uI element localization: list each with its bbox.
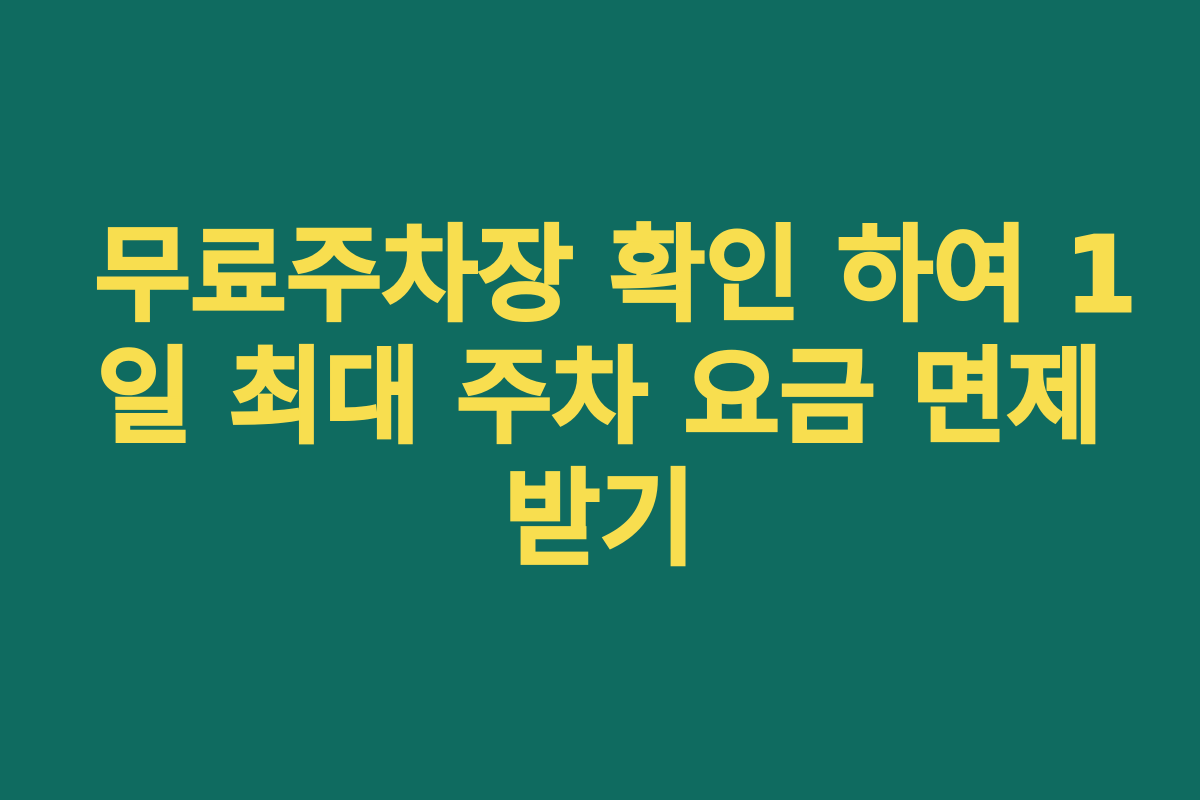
headline-line-3: 받기 bbox=[95, 458, 1105, 580]
headline-line-1: 무료주차장 확인 하여 1 bbox=[95, 214, 1105, 336]
banner-canvas: 무료주차장 확인 하여 1 일 최대 주차 요금 면제 받기 bbox=[0, 0, 1200, 800]
headline-text-block: 무료주차장 확인 하여 1 일 최대 주차 요금 면제 받기 bbox=[95, 214, 1105, 580]
headline-line-2: 일 최대 주차 요금 면제 bbox=[95, 336, 1105, 458]
